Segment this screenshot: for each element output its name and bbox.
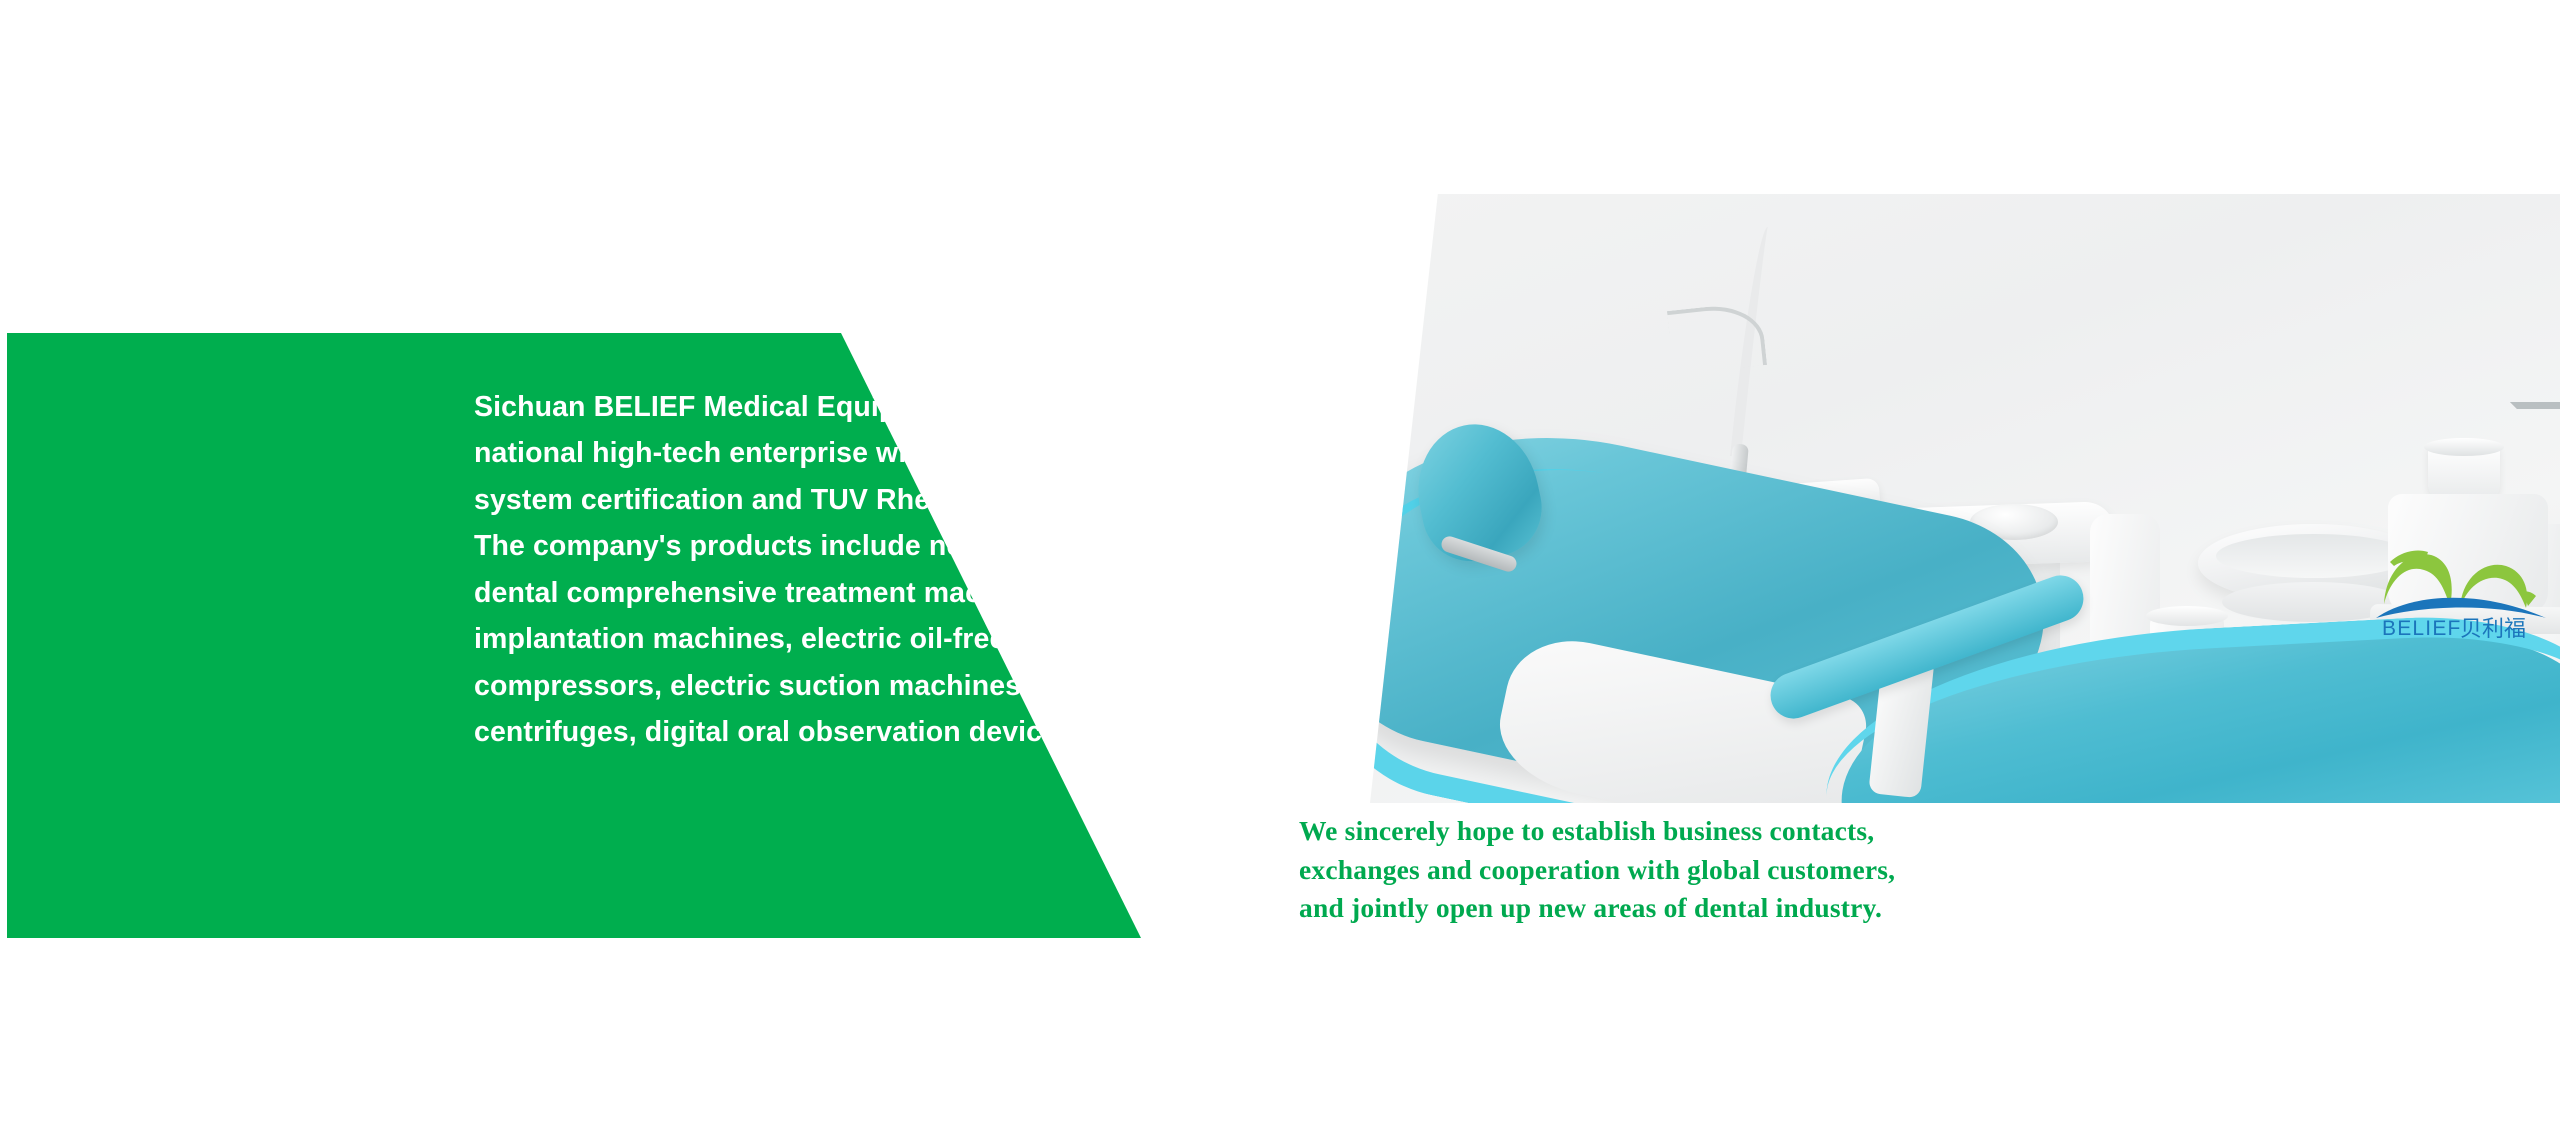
belief-logo: BELIEF 贝利福 (2370, 526, 2560, 646)
company-description-text: Sichuan BELIEF Medical Equipment Co., Lt… (474, 384, 1234, 756)
tagline-line-1: We sincerely hope to establish business … (1299, 812, 2199, 851)
dental-chair-photo: BELIEF 贝利福 (1370, 194, 2560, 803)
photo-content: BELIEF 贝利福 (1370, 194, 2560, 803)
belief-logo-chinese: 贝利福 (2460, 616, 2526, 641)
tagline-line-3: and jointly open up new areas of dental … (1299, 889, 2199, 928)
belief-logo-wordmark: BELIEF (2382, 617, 2462, 640)
company-intro-banner: BELIEF 贝利福 Sichuan BELIEF Medical Equipm… (0, 0, 2560, 1133)
water-faucet-icon (2510, 402, 2560, 526)
tagline-line-2: exchanges and cooperation with global cu… (1299, 851, 2199, 890)
belief-logo-icon: BELIEF 贝利福 (2370, 526, 2560, 646)
tagline-block: We sincerely hope to establish business … (1299, 812, 2199, 928)
